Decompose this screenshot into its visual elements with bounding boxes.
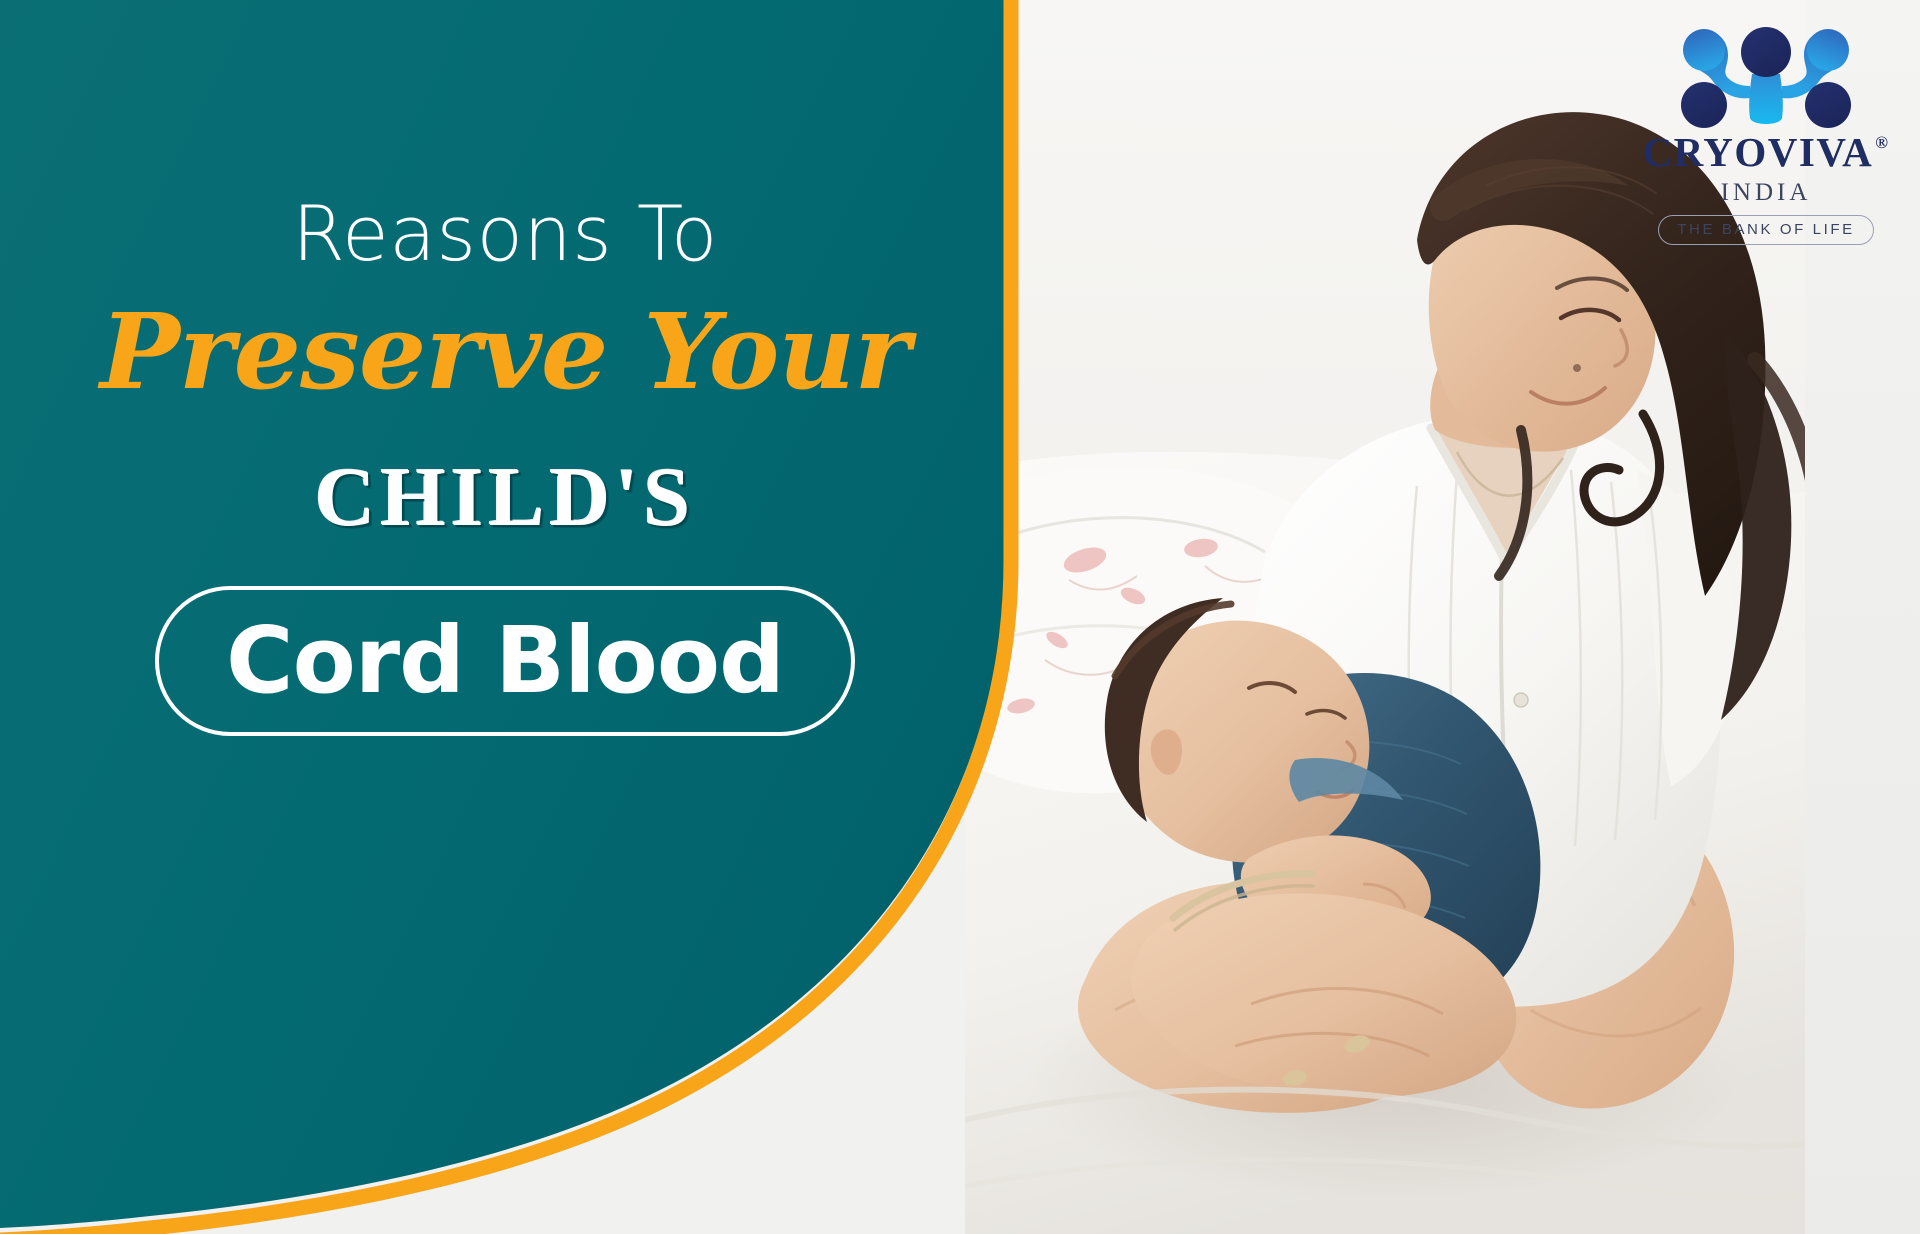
banner-canvas: Reasons To Preserve Your CHILD'S Cord Bl…	[0, 0, 1920, 1234]
logo-brand-text: CRYOVIVA	[1643, 132, 1874, 173]
headline-line-2: Preserve Your	[100, 300, 909, 404]
logo-tagline: THE BANK OF LIFE	[1658, 215, 1873, 245]
cord-blood-pill[interactable]: Cord Blood	[155, 586, 855, 736]
headline-stack: Reasons To Preserve Your CHILD'S Cord Bl…	[0, 0, 1010, 1234]
logo-wordmark: CRYOVIVA ®	[1643, 132, 1890, 173]
registered-trademark-icon: ®	[1875, 134, 1889, 151]
headline-line-3: CHILD'S	[315, 456, 695, 540]
logo-region-text: INDIA	[1721, 180, 1812, 205]
cord-blood-label: Cord Blood	[226, 615, 784, 707]
headline-line-1: Reasons To	[292, 196, 718, 272]
cryoviva-logo[interactable]: CRYOVIVA ® INDIA THE BANK OF LIFE	[1654, 22, 1878, 245]
five-node-cell-cluster-icon	[1678, 22, 1854, 128]
